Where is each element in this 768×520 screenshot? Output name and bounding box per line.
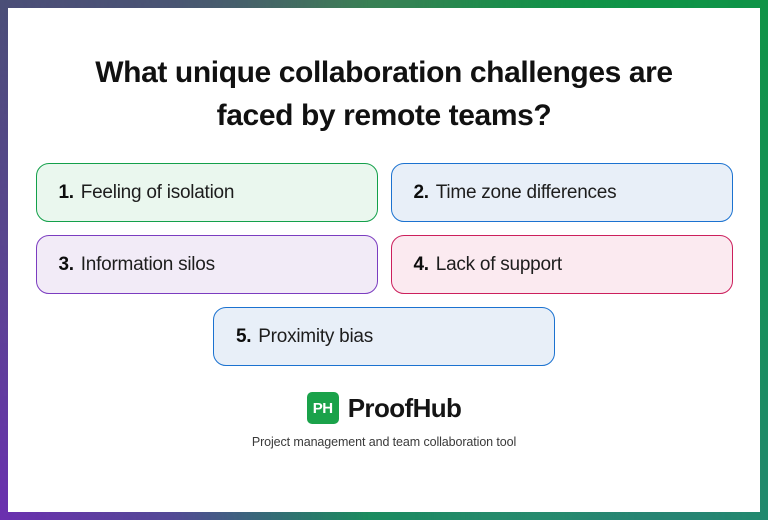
brand-lockup: PH ProofHub — [307, 392, 462, 424]
answer-label-2: Time zone differences — [436, 182, 617, 204]
answer-label-1: Feeling of isolation — [81, 182, 234, 204]
page-title: What unique collaboration challenges are… — [54, 51, 714, 137]
answer-label-5: Proximity bias — [258, 326, 373, 348]
answer-number-5: 5. — [236, 326, 251, 348]
answer-card-3: 3. Information silos — [36, 235, 378, 294]
brand-name: ProofHub — [348, 393, 462, 424]
infographic-frame: What unique collaboration challenges are… — [0, 0, 768, 520]
answer-card-2: 2. Time zone differences — [391, 163, 733, 222]
answer-label-3: Information silos — [81, 254, 215, 276]
page-title-line-2: faced by remote teams? — [54, 94, 714, 137]
answer-number-1: 1. — [59, 182, 74, 204]
proofhub-logo-text: PH — [313, 401, 333, 416]
brand-tagline: Project management and team collaboratio… — [252, 435, 516, 449]
proofhub-logo-icon: PH — [307, 392, 339, 424]
brand-block: PH ProofHub Project management and team … — [252, 392, 516, 449]
answer-number-4: 4. — [414, 254, 429, 276]
answer-card-1: 1. Feeling of isolation — [36, 163, 378, 222]
page-title-line-1: What unique collaboration challenges are — [54, 51, 714, 94]
answer-label-4: Lack of support — [436, 254, 562, 276]
answer-card-4: 4. Lack of support — [391, 235, 733, 294]
answer-list: 1. Feeling of isolation 2. Time zone dif… — [28, 163, 740, 366]
answer-card-5: 5. Proximity bias — [213, 307, 555, 366]
answer-number-3: 3. — [59, 254, 74, 276]
infographic-canvas: What unique collaboration challenges are… — [8, 8, 760, 512]
answer-number-2: 2. — [414, 182, 429, 204]
